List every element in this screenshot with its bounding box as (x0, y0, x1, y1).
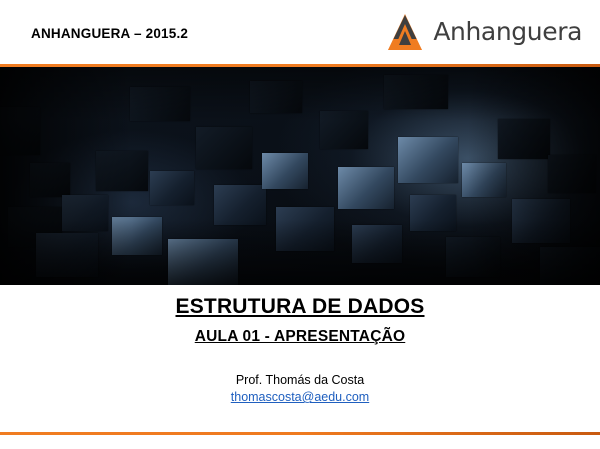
page-title: ESTRUTURA DE DADOS (0, 295, 600, 319)
logo-wordmark: Anhanguera (433, 19, 582, 47)
slide-header: ANHANGUERA – 2015.2 Anhanguera (0, 0, 600, 66)
anhanguera-triangle-icon (382, 12, 428, 54)
author-name: Prof. Thomás da Costa (0, 373, 600, 387)
banner-vignette (0, 67, 600, 285)
author-email-link[interactable]: thomascosta@aedu.com (0, 390, 600, 404)
course-header-title: ANHANGUERA – 2015.2 (31, 26, 188, 41)
banner-image (0, 67, 600, 285)
anhanguera-logo: Anhanguera (382, 8, 582, 58)
footer-accent-rule (0, 432, 600, 435)
slide: ANHANGUERA – 2015.2 Anhanguera (0, 0, 600, 449)
slide-body: ESTRUTURA DE DADOS AULA 01 - APRESENTAÇÃ… (0, 295, 600, 404)
page-subtitle: AULA 01 - APRESENTAÇÃO (0, 328, 600, 346)
